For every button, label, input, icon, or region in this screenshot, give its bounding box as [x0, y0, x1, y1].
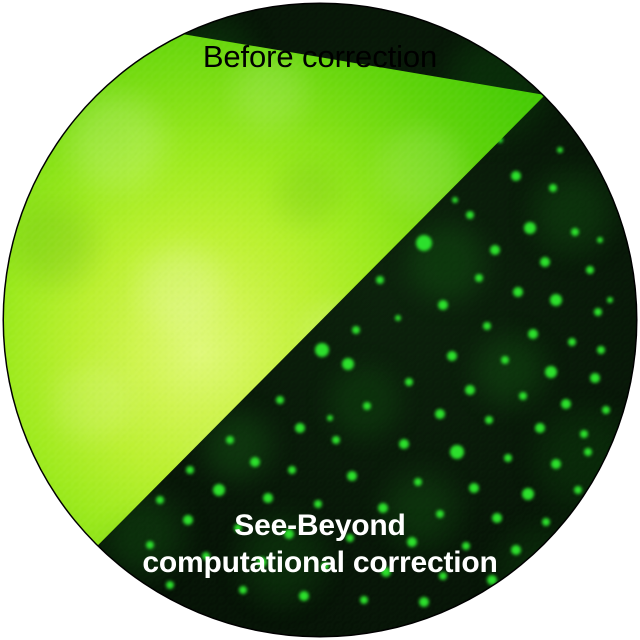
fluorescent-punctum	[399, 439, 409, 449]
fluorescent-punctum	[299, 591, 309, 601]
fluorescent-punctum	[405, 378, 413, 386]
fluorescent-punctum	[504, 454, 512, 462]
fluorescent-punctum	[395, 315, 401, 321]
fluorescent-punctum	[438, 300, 448, 310]
fluorescent-punctum	[250, 457, 260, 467]
fluorescent-punctum	[574, 486, 582, 494]
fluorescent-punctum	[315, 343, 329, 357]
fluorescent-punctum	[557, 147, 563, 153]
fluorescent-punctum	[332, 436, 340, 444]
fluorescent-punctum	[213, 484, 225, 496]
before-correction-label: Before correction	[4, 40, 636, 74]
fluorescent-punctum	[360, 596, 368, 604]
after-correction-label: See-Beyond computational correction	[4, 507, 636, 581]
fluorescent-punctum	[519, 392, 527, 400]
fluorescent-punctum	[288, 466, 296, 474]
fluorescent-punctum	[483, 322, 491, 330]
fluorescent-punctum	[452, 197, 458, 203]
fluorescent-punctum	[263, 493, 273, 503]
fluorescent-punctum	[535, 423, 545, 433]
fluorescent-punctum	[295, 423, 305, 433]
fluorescent-punctum	[226, 436, 234, 444]
fluorescent-punctum	[465, 385, 475, 395]
fluorescent-punctum	[416, 235, 432, 251]
fluorescent-punctum	[166, 581, 174, 589]
fluorescent-punctum	[485, 416, 493, 424]
fluorescent-punctum	[276, 396, 284, 404]
fluorescent-punctum	[511, 171, 521, 181]
fluorescent-punctum	[347, 471, 357, 481]
fluorescent-punctum	[435, 409, 445, 419]
fluorescent-punctum	[580, 430, 588, 438]
fluorescent-punctum	[524, 222, 536, 234]
fluorescent-punctum	[586, 266, 594, 274]
fluorescent-punctum	[363, 402, 371, 410]
fluorescent-punctum	[352, 326, 360, 334]
fluorescent-punctum	[597, 237, 603, 243]
circular-field-of-view: Before correction See-Beyond computation…	[4, 4, 636, 636]
after-correction-label-line1: See-Beyond	[4, 507, 636, 544]
fluorescent-punctum	[186, 466, 194, 474]
fluorescent-punctum	[551, 459, 561, 469]
fluorescent-punctum	[602, 406, 610, 414]
fluorescent-punctum	[513, 287, 523, 297]
fluorescent-punctum	[597, 346, 605, 354]
after-correction-label-line2: computational correction	[4, 544, 636, 581]
fluorescent-punctum	[522, 488, 534, 500]
fluorescent-punctum	[549, 184, 557, 192]
fluorescent-punctum	[594, 308, 602, 316]
fluorescent-punctum	[475, 274, 483, 282]
fluorescent-punctum	[342, 358, 354, 370]
fluorescent-punctum	[450, 445, 464, 459]
fluorescent-punctum	[528, 329, 538, 339]
fluorescent-punctum	[561, 399, 571, 409]
fluorescent-punctum	[469, 483, 479, 493]
fluorescent-punctum	[490, 245, 500, 255]
fluorescent-punctum	[584, 448, 592, 456]
fluorescent-punctum	[327, 415, 333, 421]
fluorescent-punctum	[447, 351, 457, 361]
fluorescent-punctum	[419, 597, 429, 607]
fluorescent-punctum	[607, 297, 613, 303]
microscopy-comparison-figure: Before correction See-Beyond computation…	[0, 0, 640, 640]
fluorescent-punctum	[501, 356, 509, 364]
fluorescent-punctum	[156, 496, 164, 504]
fluorescent-punctum	[550, 294, 562, 306]
fluorescent-punctum	[376, 276, 384, 284]
fluorescent-punctum	[571, 228, 579, 236]
fluorescent-punctum	[414, 478, 422, 486]
fluorescent-punctum	[540, 257, 550, 267]
fluorescent-punctum	[466, 211, 474, 219]
fluorescent-punctum	[239, 586, 247, 594]
fluorescent-punctum	[590, 373, 600, 383]
fluorescent-punctum	[568, 338, 576, 346]
fluorescent-punctum	[545, 366, 557, 378]
